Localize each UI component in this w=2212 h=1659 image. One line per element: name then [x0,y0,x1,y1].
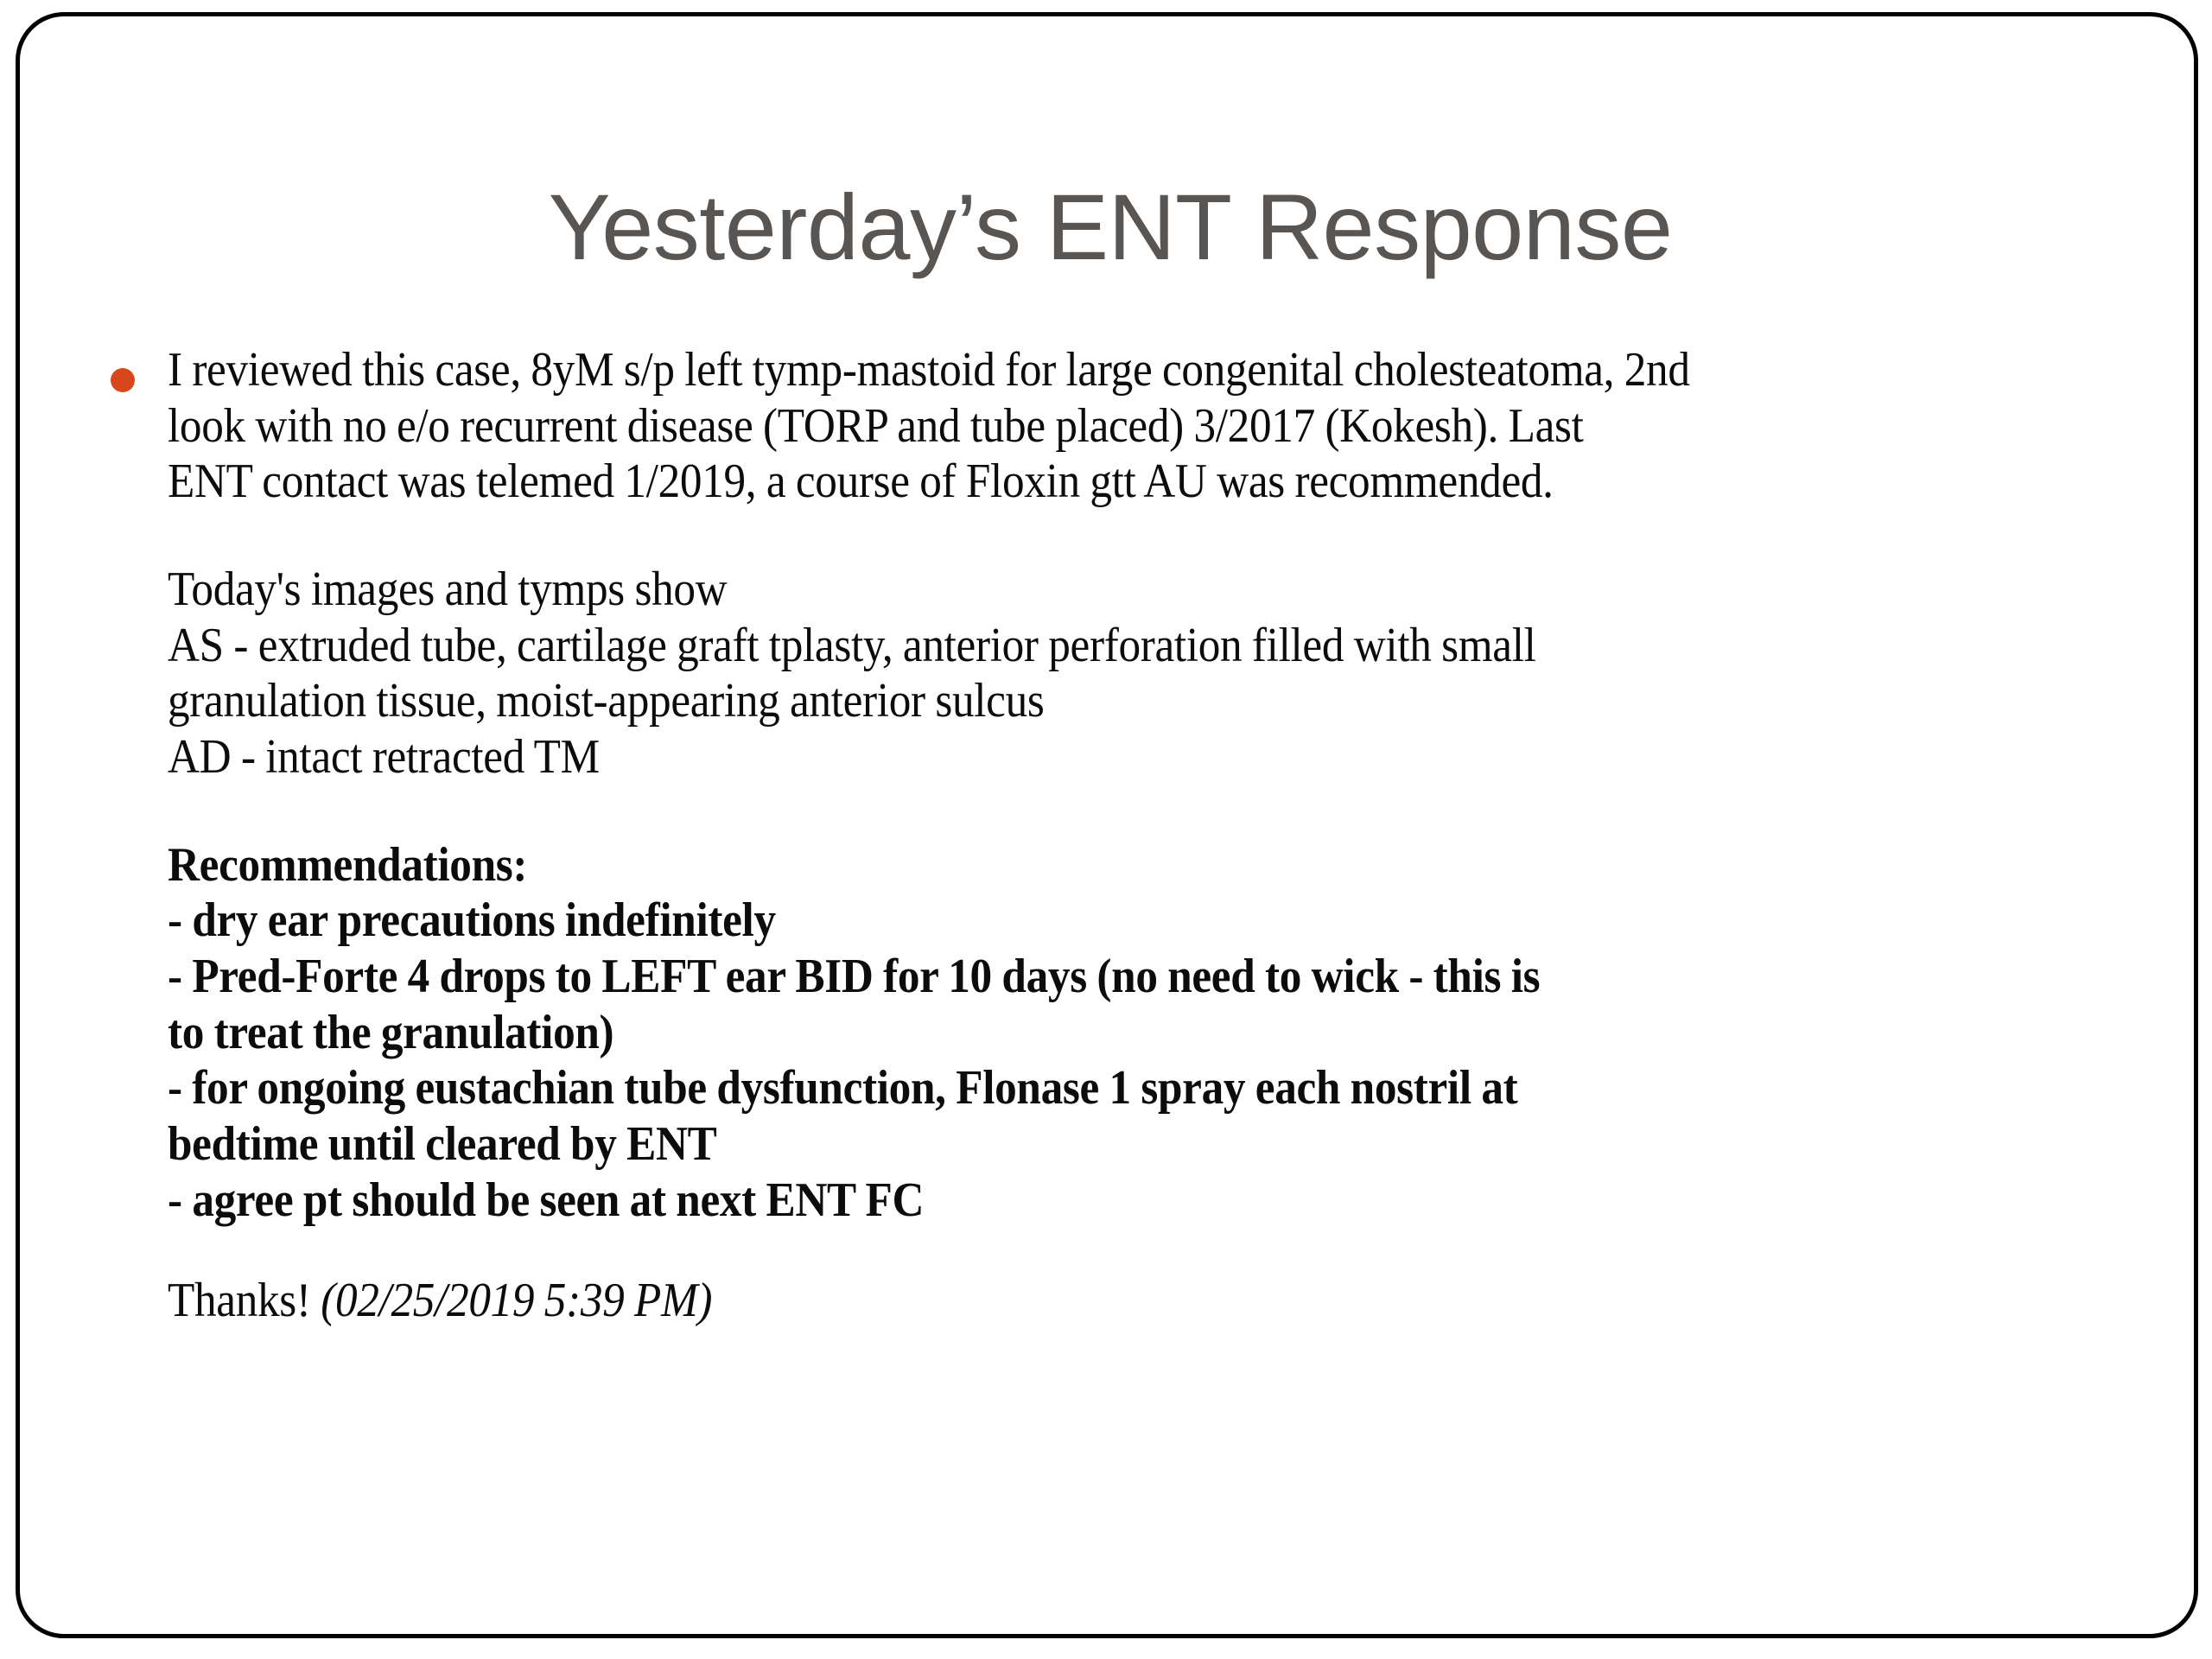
paragraph-gap-3 [168,1228,2134,1273]
recommendation-item-1: - dry ear precautions indefinitely [168,893,1967,949]
findings-ad-line: AD - intact retracted TM [168,729,1967,785]
recommendation-item-3-line-1: - for ongoing eustachian tube dysfunctio… [168,1060,1967,1116]
closing-thanks: Thanks! [168,1274,311,1327]
bullet-dot-icon [111,368,135,392]
intro-line-1: I reviewed this case, 8yM s/p left tymp-… [168,342,1967,398]
slide-canvas: Yesterday’s ENT Response I reviewed this… [0,0,2212,1659]
slide-body: I reviewed this case, 8yM s/p left tymp-… [95,342,2134,1329]
closing-timestamp: (02/25/2019 5:39 PM) [321,1274,712,1327]
recommendation-item-2-line-2: to treat the granulation) [168,1005,1967,1061]
findings-as-line-2: granulation tissue, moist-appearing ante… [168,673,1967,729]
closing-line: Thanks! (02/25/2019 5:39 PM) [168,1273,1967,1329]
recommendations-header: Recommendations: [168,837,1967,893]
recommendation-item-2-line-1: - Pred-Forte 4 drops to LEFT ear BID for… [168,949,1967,1005]
paragraph-gap-2 [168,785,2134,837]
intro-line-2: look with no e/o recurrent disease (TORP… [168,398,1967,454]
findings-header: Today's images and tymps show [168,562,1967,618]
intro-line-3: ENT contact was telemed 1/2019, a course… [168,454,1967,510]
recommendation-item-3-line-2: bedtime until cleared by ENT [168,1116,1967,1173]
paragraph-gap-1 [168,510,2134,562]
findings-as-line-1: AS - extruded tube, cartilage graft tpla… [168,618,1967,674]
recommendation-item-4: - agree pt should be seen at next ENT FC [168,1173,1967,1229]
bullet-list-item: I reviewed this case, 8yM s/p left tymp-… [95,342,2134,1329]
page-title: Yesterday’s ENT Response [147,177,2074,278]
ent-response-text: I reviewed this case, 8yM s/p left tymp-… [168,342,2134,1329]
